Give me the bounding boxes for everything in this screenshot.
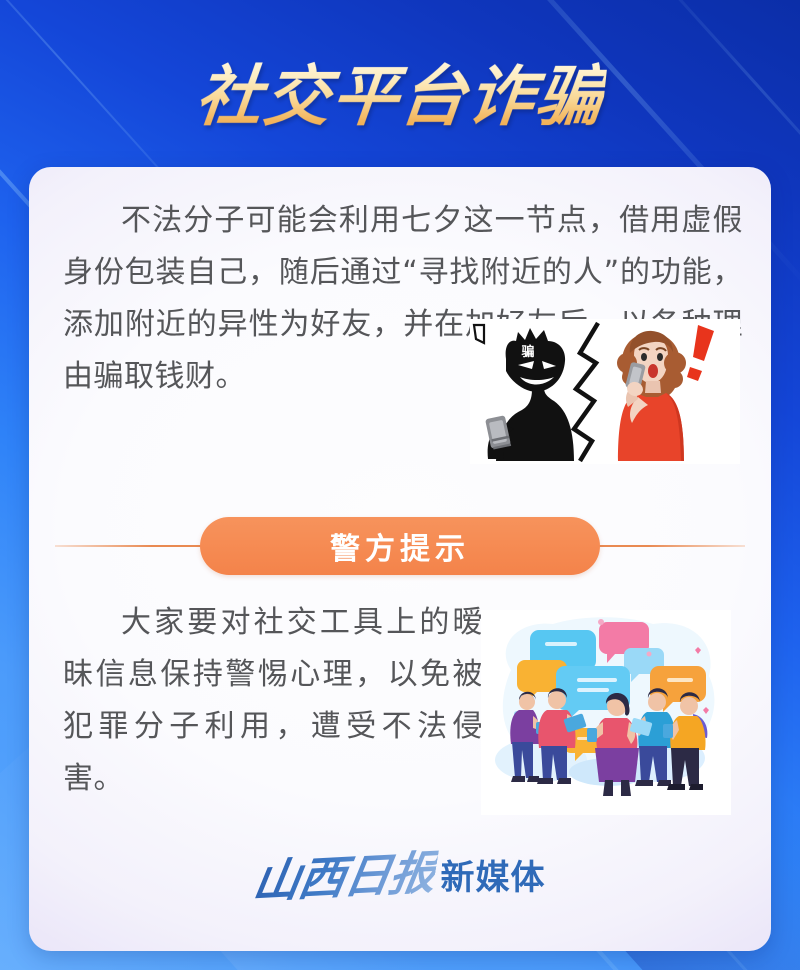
status-badge: 警方提示 (200, 517, 600, 575)
page-title-text: 社交平台诈骗 (191, 54, 608, 140)
paragraph-police-advice: 大家要对社交工具上的暧昧信息保持警惕心理，以免被犯罪分子利用，遭受不法侵害。 (63, 597, 483, 805)
scammer-and-victim-illustration: 骗 (470, 319, 740, 464)
brand-name-media: 新媒体 (441, 850, 546, 899)
footer-brand-logo: 山西日报 新媒体 (29, 839, 771, 909)
content-card: 不法分子可能会利用七夕这一节点，借用虚假身份包装自己，随后通过“寻找附近的人”的… (29, 167, 771, 951)
poster-canvas: 社交平台诈骗 不法分子可能会利用七夕这一节点，借用虚假身份包装自己，随后通过“寻… (0, 0, 800, 970)
page-title: 社交平台诈骗 (0, 54, 800, 144)
people-chatting-illustration (481, 610, 731, 815)
forehead-label: 骗 (521, 344, 534, 360)
police-tip-section: 警方提示 (29, 517, 771, 575)
brand-name-cursive: 山西日报 (248, 836, 440, 911)
status-badge-label: 警方提示 (330, 524, 470, 568)
